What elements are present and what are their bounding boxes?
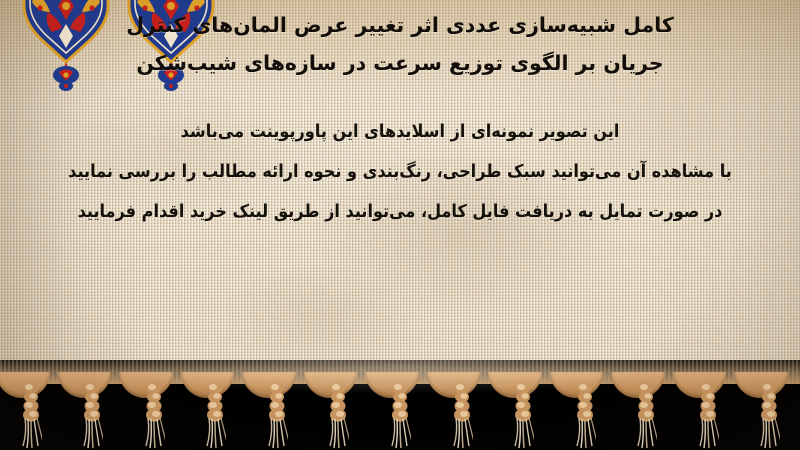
fringe-tassel	[697, 382, 719, 450]
fringe-tassel	[451, 382, 473, 450]
body-line-1: این تصویر نمونه‌ای از اسلایدهای این پاور…	[32, 112, 768, 152]
fringe-tassel	[758, 382, 780, 450]
title-line-2: جریان بر الگوی توزیع سرعت در سازه‌های شی…	[10, 44, 790, 82]
title-line-1: کامل شبیه‌سازی عددی اثر تغییر عرض المان‌…	[10, 6, 790, 44]
slide-title: کامل شبیه‌سازی عددی اثر تغییر عرض المان‌…	[0, 6, 790, 82]
slide-body: این تصویر نمونه‌ای از اسلایدهای این پاور…	[0, 112, 800, 232]
fringe-tassel	[204, 382, 226, 450]
slide-canvas: کامل شبیه‌سازی عددی اثر تغییر عرض المان‌…	[0, 0, 800, 450]
fringe-tassel	[574, 382, 596, 450]
fringe-tassel	[389, 382, 411, 450]
body-line-3: در صورت تمایل به دریافت فایل کامل، می‌تو…	[32, 192, 768, 232]
body-line-2: با مشاهده آن می‌توانید سبک طراحی، رنگ‌بن…	[32, 152, 768, 192]
fringe-tassel	[81, 382, 103, 450]
fringe-tassel	[20, 382, 42, 450]
fringe-tassel	[512, 382, 534, 450]
fringe-tassel	[327, 382, 349, 450]
fringe-tassel	[266, 382, 288, 450]
fringe-tassel	[635, 382, 657, 450]
carpet-fringe	[0, 360, 800, 450]
fringe-tassel	[143, 382, 165, 450]
